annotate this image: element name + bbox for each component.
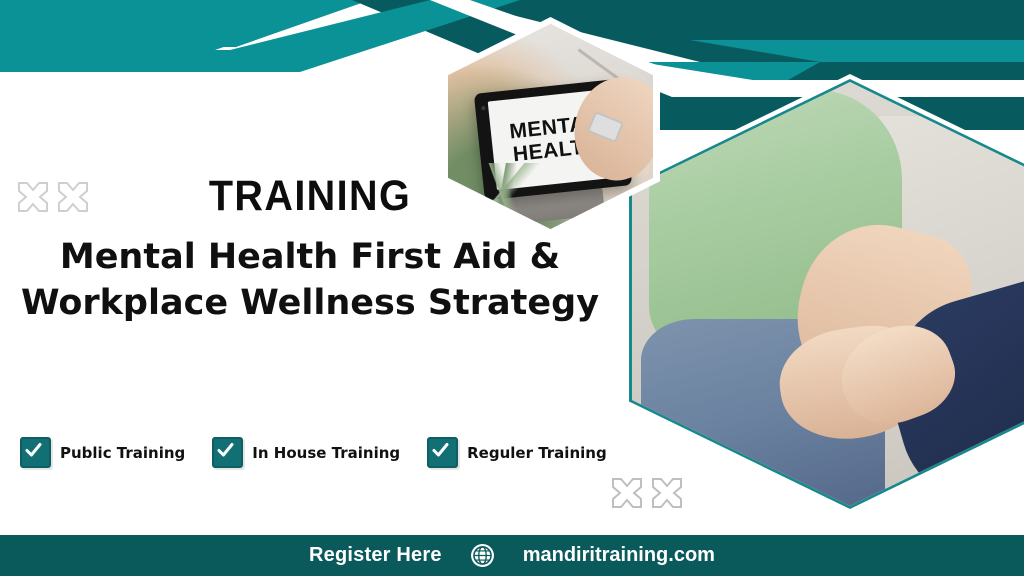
hexagon-photo-clip (632, 82, 1024, 506)
headline-block: TRAINING Mental Health First Aid & Workp… (0, 175, 620, 326)
option-in-house-training[interactable]: In House Training (212, 437, 400, 468)
option-reguler-training[interactable]: Reguler Training (427, 437, 607, 468)
globe-icon (470, 543, 495, 568)
title-line-2: Workplace Wellness Strategy (0, 280, 620, 326)
hexagon-photo-counseling (624, 74, 1024, 514)
checkbox-checked-icon[interactable] (212, 437, 243, 468)
kicker-training: TRAINING (25, 175, 595, 218)
register-here-label[interactable]: Register Here (309, 544, 442, 567)
counseling-photo (632, 82, 1024, 506)
option-label: Public Training (60, 444, 185, 462)
option-public-training[interactable]: Public Training (20, 437, 185, 468)
website-url[interactable]: mandiritraining.com (523, 544, 715, 567)
option-label: Reguler Training (467, 444, 607, 462)
checkbox-checked-icon[interactable] (427, 437, 458, 468)
checkbox-checked-icon[interactable] (20, 437, 51, 468)
title-line-1: Mental Health First Aid & (0, 234, 620, 280)
footer-bar: Register Here mandiritraining.com (0, 535, 1024, 576)
page-title: Mental Health First Aid & Workplace Well… (0, 234, 620, 326)
tablet-camera (481, 105, 485, 109)
poster-canvas: MENTAL HEALTH TRAINING Mental Health Fir… (0, 0, 1024, 576)
option-label: In House Training (252, 444, 400, 462)
training-options: Public Training In House Training Regule… (20, 437, 607, 468)
